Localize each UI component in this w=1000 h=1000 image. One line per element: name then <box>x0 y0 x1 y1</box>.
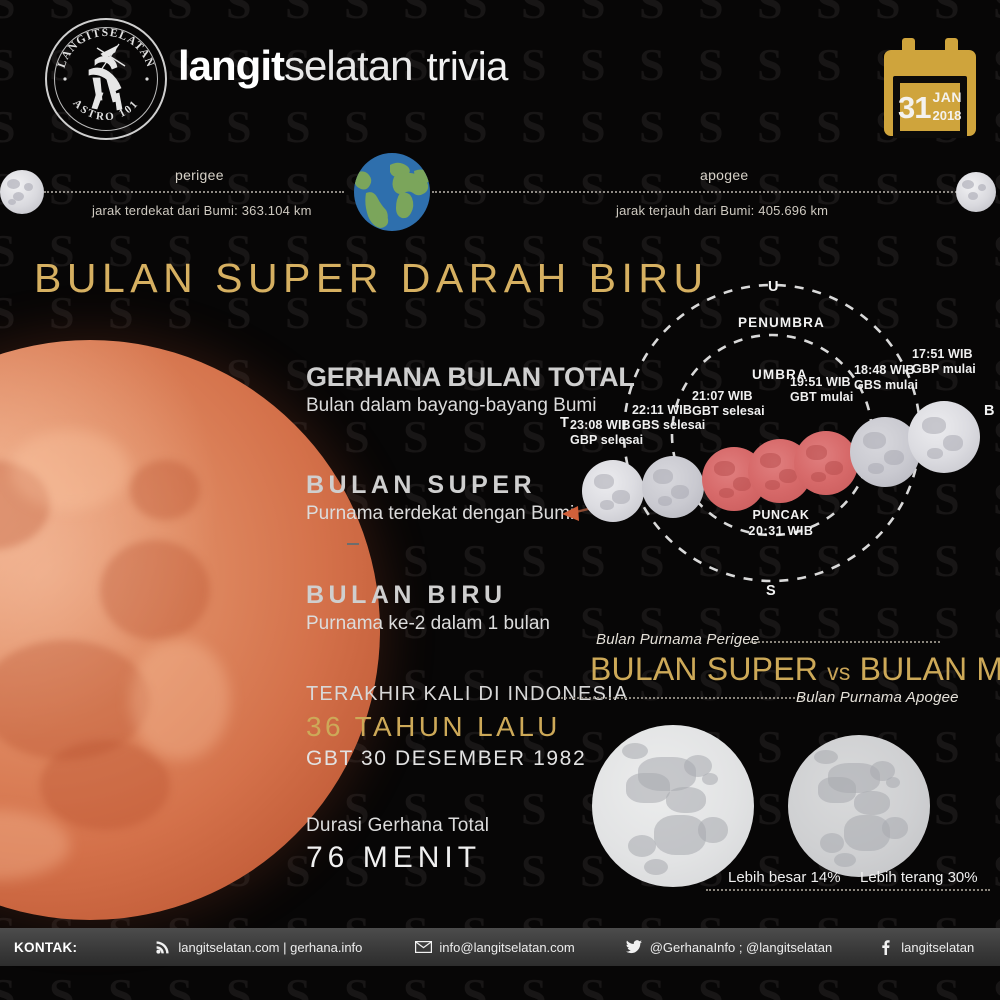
compare-title-vs: vs <box>827 659 850 685</box>
kontak-label: KONTAK: <box>14 940 77 955</box>
super-vs-mini-section: Bulan Purnama Perigee BULAN SUPER vs BUL… <box>560 625 990 910</box>
rss-icon <box>153 939 172 955</box>
perigee-apogee-strip <box>0 150 1000 250</box>
phase-label-gbp-mulai: 17:51 WIB GBP mulai <box>912 347 976 377</box>
calendar-date-panel: 31 JAN 2018 <box>900 83 960 131</box>
apogee-moon-icon <box>956 172 996 212</box>
sagittarius-centaur-icon: LANGITSELATAN ASTRO 101 <box>45 18 167 140</box>
footer-item-text: langitselatan <box>901 940 974 955</box>
eclipse-path-diagram: PENUMBRA UMBRA U S T B <box>550 275 1000 610</box>
compare-bottom-rule <box>558 697 803 699</box>
path-arrow-icon <box>562 506 579 521</box>
footer-item-email[interactable]: info@langitselatan.com <box>414 939 574 955</box>
phase-event: GBT selesai <box>692 404 765 418</box>
orbit-line-right <box>432 191 972 193</box>
calendar-icon: 31 JAN 2018 <box>884 38 976 136</box>
compare-title-right: BULAN MINI <box>860 651 1000 687</box>
calendar-month: JAN <box>932 89 962 105</box>
fact-bulan-super: BULAN SUPER Purnama terdekat dengan Bumi <box>306 472 574 525</box>
compare-stat-brightness: Lebih terang 30% <box>860 869 978 886</box>
brand-wordmark: langitselatantrivia <box>178 42 508 90</box>
infographic-canvas: SSSSSSSSSSSSSSSSSSSSSSSSSSSSSSSSSSSSSSSS… <box>0 0 1000 1000</box>
twitter-icon <box>625 939 644 955</box>
separator-dash <box>347 543 359 545</box>
phase-time: 17:51 WIB <box>912 347 973 361</box>
compare-top-caption: Bulan Purnama Perigee <box>596 631 759 648</box>
footer-item-text: @GerhanaInfo ; @langitselatan <box>650 940 833 955</box>
footer-item-text: info@langitselatan.com <box>439 940 574 955</box>
fact-bulan-biru: BULAN BIRU Purnama ke-2 dalam 1 bulan <box>306 582 550 635</box>
footer-item-text: langitselatan.com | gerhana.info <box>178 940 362 955</box>
fact-subtitle: Purnama terdekat dengan Bumi <box>306 503 574 525</box>
brand-trivia: trivia <box>426 45 507 89</box>
fact-title: BULAN BIRU <box>306 582 550 610</box>
cardinal-east-label: T <box>560 415 569 431</box>
cardinal-west-label: B <box>984 403 995 419</box>
perigee-moon-icon <box>0 170 44 214</box>
cardinal-south-label: S <box>766 583 776 599</box>
phase-time: 21:07 WIB <box>692 389 753 403</box>
supermoon-illustration <box>592 725 754 887</box>
moon-phase-gbp-selesai <box>582 460 644 522</box>
moon-phase-gbt-mulai <box>794 431 858 495</box>
phase-event: GBS mulai <box>854 378 918 392</box>
phase-event: GBP mulai <box>912 362 976 376</box>
langitselatan-logo: LANGITSELATAN ASTRO 101 <box>45 18 167 140</box>
svg-text:ASTRO 101: ASTRO 101 <box>70 97 141 123</box>
facebook-icon <box>876 939 895 955</box>
envelope-icon <box>414 939 433 955</box>
compare-title: BULAN SUPER vs BULAN MINI <box>590 651 1000 688</box>
calendar-inner-frame: 31 JAN 2018 <box>893 76 967 138</box>
calendar-day: 31 <box>898 92 930 123</box>
calendar-year: 2018 <box>932 108 961 123</box>
duration-label: Durasi Gerhana Total <box>306 815 489 837</box>
phase-label-gbs-mulai: 18:48 WIB GBS mulai <box>854 363 918 393</box>
compare-top-rule <box>750 641 940 643</box>
duration-value: 76 MENIT <box>306 841 489 875</box>
fact-subtitle: Purnama ke-2 dalam 1 bulan <box>306 613 550 635</box>
header: LANGITSELATAN ASTRO 101 <box>0 0 1000 150</box>
compare-bottom-caption: Bulan Purnama Apogee <box>796 689 959 706</box>
brand-light: selatan <box>284 42 412 89</box>
phase-time: 18:48 WIB <box>854 363 915 377</box>
phase-event: GBS selesai <box>632 418 705 432</box>
footer-item-website[interactable]: langitselatan.com | gerhana.info <box>153 939 362 955</box>
peak-time: 20:31 WIB <box>748 524 813 538</box>
contact-footer: KONTAK: langitselatan.com | gerhana.info… <box>0 928 1000 966</box>
calendar-body: 31 JAN 2018 <box>884 50 976 136</box>
phase-event: GBP selesai <box>570 433 643 447</box>
duration-block: Durasi Gerhana Total 76 MENIT <box>306 815 489 875</box>
fact-title: BULAN SUPER <box>306 472 574 500</box>
footer-item-facebook[interactable]: langitselatan <box>876 939 974 955</box>
compare-title-left: BULAN SUPER <box>590 651 818 687</box>
phase-event: GBT mulai <box>790 390 853 404</box>
moon-phase-gbs-selesai <box>642 456 704 518</box>
phase-label-gbt-mulai: 19:51 WIB GBT mulai <box>790 375 853 405</box>
cardinal-north-label: U <box>768 279 779 295</box>
orbit-line-left <box>44 191 344 193</box>
penumbra-zone-label: PENUMBRA <box>738 315 825 330</box>
phase-time: 22:11 WIB <box>632 403 692 417</box>
peak-label: PUNCAK <box>752 508 809 522</box>
compare-stat-size: Lebih besar 14% <box>728 869 841 886</box>
peak-annotation: PUNCAK 20:31 WIB <box>726 507 836 539</box>
phase-time: 23:08 WIB <box>570 418 631 432</box>
phase-time: 19:51 WIB <box>790 375 851 389</box>
brand-bold: langit <box>178 42 284 89</box>
moon-phase-gbp-mulai <box>908 401 980 473</box>
footer-item-twitter[interactable]: @GerhanaInfo ; @langitselatan <box>625 939 833 955</box>
minimoon-illustration <box>788 735 930 877</box>
phase-label-gbt-selesai: 21:07 WIB GBT selesai <box>692 389 765 419</box>
compare-footer-rule <box>706 889 990 891</box>
